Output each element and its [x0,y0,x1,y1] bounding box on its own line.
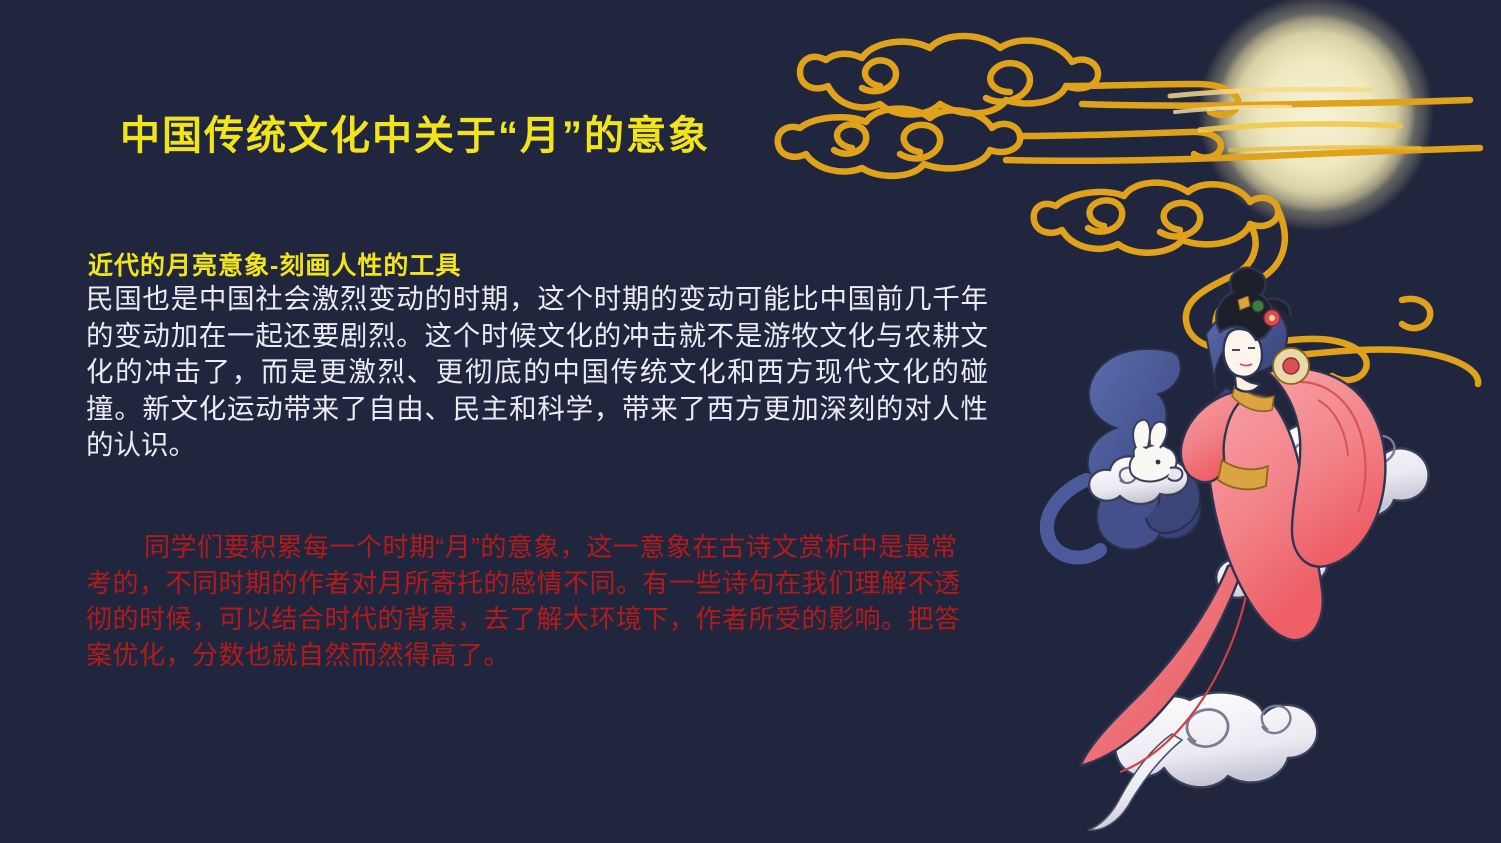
slide-text-layer: 中国传统文化中关于“月”的意象 近代的月亮意象-刻画人性的工具 民国也是中国社会… [0,0,1501,843]
slide-canvas: 中国传统文化中关于“月”的意象 近代的月亮意象-刻画人性的工具 民国也是中国社会… [0,0,1501,843]
body-paragraph: 民国也是中国社会激烈变动的时期，这个时期的变动可能比中国前几千年的变动加在一起还… [86,281,988,464]
section-subtitle: 近代的月亮意象-刻画人性的工具 [88,246,461,282]
note-paragraph: 同学们要积累每一个时期“月”的意象，这一意象在古诗文赏析中是最常考的，不同时期的… [86,529,966,673]
page-title: 中国传统文化中关于“月”的意象 [120,112,710,160]
